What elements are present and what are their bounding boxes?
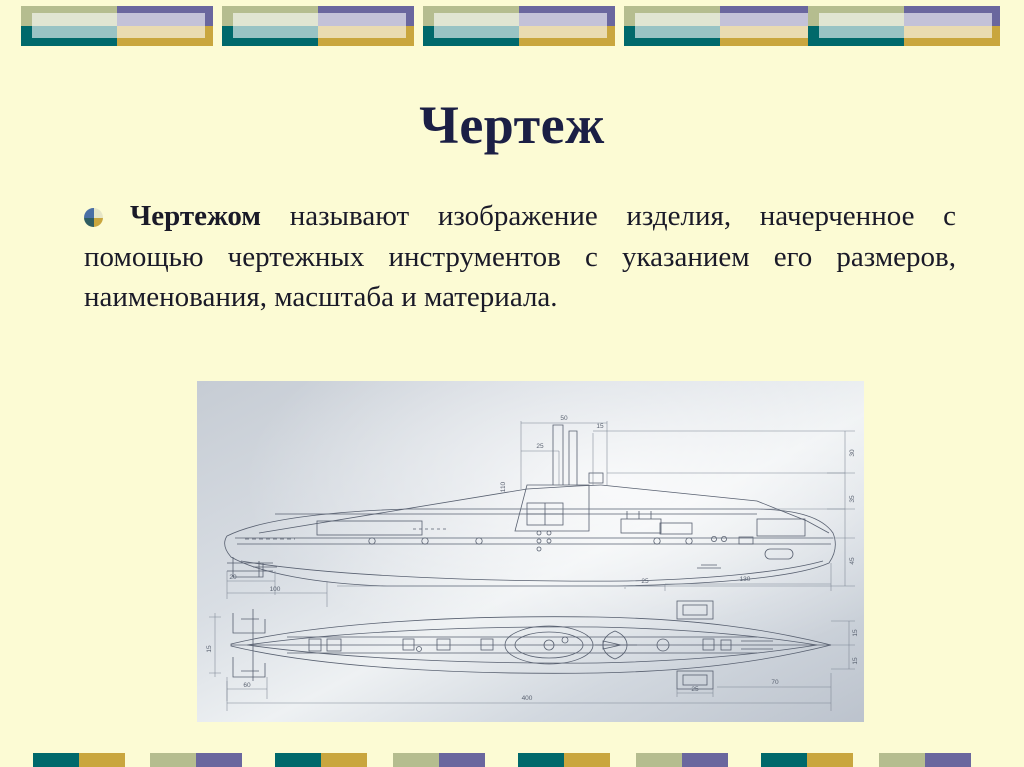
submarine-drawing-svg: 50 15 25 110 20 100 25 130 60 400 25 70 … bbox=[197, 381, 864, 722]
footer-half-purple bbox=[439, 753, 485, 767]
footer-half-khaki bbox=[393, 753, 439, 767]
deco-overlay bbox=[434, 13, 607, 38]
dim-label: 25 bbox=[536, 443, 544, 450]
dim-label: 25 bbox=[691, 686, 699, 693]
footer-half-teal bbox=[33, 753, 79, 767]
deco-overlay bbox=[635, 13, 808, 38]
footer-half-teal bbox=[518, 753, 564, 767]
footer-deco-block bbox=[275, 753, 367, 767]
header-deco-block bbox=[808, 6, 1000, 46]
footer-half-gold bbox=[321, 753, 367, 767]
dim-label: 25 bbox=[641, 578, 649, 585]
bullet-quad-blue bbox=[84, 208, 94, 218]
dim-label: 110 bbox=[500, 481, 507, 492]
quadrant-pie-bullet-icon bbox=[84, 208, 103, 227]
footer-deco-block bbox=[150, 753, 242, 767]
dim-label: 60 bbox=[243, 682, 251, 689]
footer-deco-block bbox=[636, 753, 728, 767]
dim-label: 30 bbox=[849, 449, 856, 457]
page-title: Чертеж bbox=[0, 96, 1024, 155]
dim-label: 100 bbox=[270, 586, 281, 593]
bullet-quad-teal bbox=[84, 218, 94, 228]
footer-deco-block bbox=[761, 753, 853, 767]
deco-overlay bbox=[32, 13, 205, 38]
deco-overlay bbox=[819, 13, 992, 38]
header-deco-block bbox=[21, 6, 213, 46]
header-deco-block bbox=[222, 6, 414, 46]
dim-label: 45 bbox=[849, 557, 856, 565]
footer-half-gold bbox=[564, 753, 610, 767]
footer-deco-block bbox=[518, 753, 610, 767]
footer-half-khaki bbox=[879, 753, 925, 767]
deco-overlay bbox=[233, 13, 406, 38]
bullet-quad-gold bbox=[94, 218, 104, 228]
footer-half-purple bbox=[925, 753, 971, 767]
dim-label: 50 bbox=[560, 415, 568, 422]
footer-deco-block bbox=[33, 753, 125, 767]
footer-deco-block bbox=[879, 753, 971, 767]
bullet-quad-cream bbox=[94, 208, 104, 218]
submarine-drawing-image: 50 15 25 110 20 100 25 130 60 400 25 70 … bbox=[197, 381, 864, 722]
dim-label: 400 bbox=[522, 695, 533, 702]
footer-half-teal bbox=[275, 753, 321, 767]
footer-half-khaki bbox=[636, 753, 682, 767]
body-content: Чертежом называют изображение изделия, н… bbox=[84, 196, 956, 318]
definition-term: Чертежом bbox=[130, 200, 261, 232]
dim-label: 15 bbox=[596, 423, 604, 430]
dim-label: 130 bbox=[740, 576, 751, 583]
dim-label: 15 bbox=[852, 629, 859, 637]
dim-label: 35 bbox=[849, 495, 856, 503]
definition-paragraph: Чертежом называют изображение изделия, н… bbox=[84, 196, 956, 318]
footer-half-purple bbox=[682, 753, 728, 767]
dim-label: 70 bbox=[771, 679, 779, 686]
header-decoration-bar bbox=[0, 0, 1024, 56]
dim-label: 20 bbox=[229, 574, 237, 581]
footer-half-teal bbox=[761, 753, 807, 767]
header-deco-block bbox=[423, 6, 615, 46]
footer-decoration-bar bbox=[0, 745, 1024, 767]
dim-label: 15 bbox=[206, 645, 213, 653]
footer-half-gold bbox=[807, 753, 853, 767]
dim-label: 15 bbox=[852, 657, 859, 665]
footer-half-purple bbox=[196, 753, 242, 767]
footer-half-gold bbox=[79, 753, 125, 767]
header-deco-block bbox=[624, 6, 816, 46]
footer-deco-block bbox=[393, 753, 485, 767]
footer-half-khaki bbox=[150, 753, 196, 767]
